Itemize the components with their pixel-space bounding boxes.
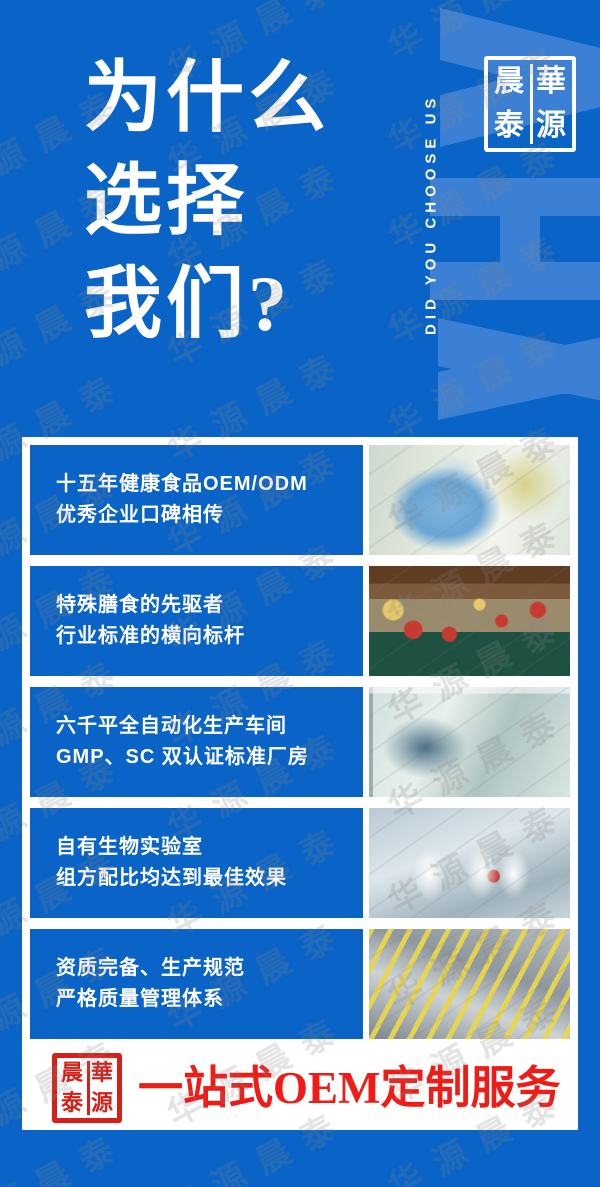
feature-card[interactable]: 自有生物实验室 组方配比均达到最佳效果 [30,808,570,918]
title-line-1: 为什么 [84,46,384,149]
footer-slogan: 一站式OEM定制服务 [138,1066,561,1111]
feature-card[interactable]: 特殊膳食的先驱者 行业标准的横向标杆 [30,566,570,676]
photo-conference-audience [369,566,570,676]
header-section: 为什么 选择 我们? DID YOU CHOOSE US 晨 華 泰 源 [0,0,600,437]
title-line-2: 选择 [84,149,384,252]
feature-card[interactable]: 资质完备、生产规范 严格质量管理体系 [30,929,570,1039]
page-title: 为什么 选择 我们? [84,46,384,355]
photo-cleanroom-corridor [369,687,570,797]
seal-char-4: 源 [530,104,572,148]
feature-line-1: 资质完备、生产规范 [56,953,363,984]
feature-card-text: 六千平全自动化生产车间 GMP、SC 双认证标准厂房 [30,687,363,797]
company-seal-icon: 晨 華 泰 源 [484,56,576,152]
photo-workers-production-line [369,808,570,918]
photo-lab-technician-vial [369,445,570,555]
feature-line-2: 组方配比均达到最佳效果 [56,863,363,894]
seal-divider [530,64,533,144]
feature-line-1: 特殊膳食的先驱者 [56,590,363,621]
why-letter-h-stroke [500,178,540,300]
feature-line-2: GMP、SC 双认证标准厂房 [56,742,363,773]
feature-line-1: 自有生物实验室 [56,832,363,863]
seal-divider [87,1061,90,1115]
seal-char-1: 晨 [488,60,530,104]
title-line-3: 我们? [84,252,384,355]
feature-card-text: 自有生物实验室 组方配比均达到最佳效果 [30,808,363,918]
seal-char-3: 泰 [488,104,530,148]
footer-banner: 晨 華 泰 源 一站式OEM定制服务 [30,1050,570,1126]
footer-seal-char-4: 源 [87,1088,117,1118]
company-seal-red-icon: 晨 華 泰 源 [52,1053,122,1123]
footer-seal-char-3: 泰 [57,1088,87,1118]
footer-seal-char-1: 晨 [57,1058,87,1088]
footer-seal-char-2: 華 [87,1058,117,1088]
feature-line-2: 优秀企业口碑相传 [56,500,363,531]
feature-card-list: 十五年健康食品OEM/ODM 优秀企业口碑相传 特殊膳食的先驱者 行业标准的横向… [30,445,570,1039]
seal-char-2: 華 [530,60,572,104]
feature-line-2: 行业标准的横向标杆 [56,621,363,652]
feature-card-text: 特殊膳食的先驱者 行业标准的横向标杆 [30,566,363,676]
content-frame: 十五年健康食品OEM/ODM 优秀企业口碑相传 特殊膳食的先驱者 行业标准的横向… [22,437,578,1130]
feature-line-1: 六千平全自动化生产车间 [56,711,363,742]
feature-line-2: 严格质量管理体系 [56,984,363,1015]
vertical-tagline: DID YOU CHOOSE US [418,18,444,410]
feature-card-text: 十五年健康食品OEM/ODM 优秀企业口碑相传 [30,445,363,555]
feature-card[interactable]: 十五年健康食品OEM/ODM 优秀企业口碑相传 [30,445,570,555]
feature-card[interactable]: 六千平全自动化生产车间 GMP、SC 双认证标准厂房 [30,687,570,797]
photo-tablet-packaging-machine [369,929,570,1039]
why-letter-y-stroke [550,352,600,394]
feature-line-1: 十五年健康食品OEM/ODM [56,469,363,500]
feature-card-text: 资质完备、生产规范 严格质量管理体系 [30,929,363,1039]
